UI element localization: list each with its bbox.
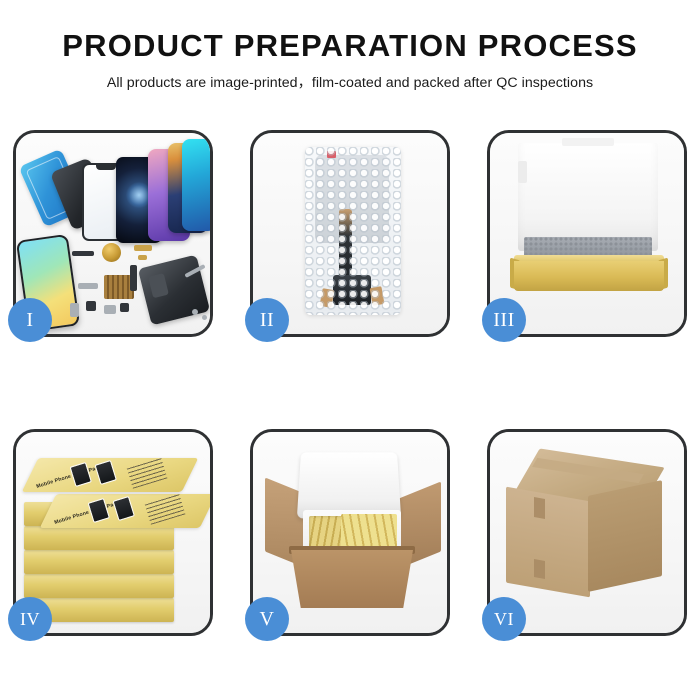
bracket-part [78,283,98,289]
process-step-panel-5: V [250,429,450,636]
flex-cable-part [130,265,137,291]
stacked-box [24,574,174,598]
speaker-part [104,305,116,314]
step-badge-5: V [245,597,289,641]
vibration-motor-part [102,243,121,262]
process-step-panel-4: Mobile Phone Spare Parts Mobile Phone Sp… [13,429,213,636]
process-step-panel-2: II [250,130,450,337]
box-stack: Mobile Phone Spare Parts Mobile Phone Sp… [22,450,208,622]
carton-tape-front-lower [534,559,545,579]
step-badge-1: I [8,298,52,342]
step-badge-3: III [482,298,526,342]
phone-teal-gradient [182,139,210,231]
carton-front-face [506,487,590,598]
box-label-window [95,460,117,485]
stacked-box-top-face: Mobile Phone Spare Parts [40,494,210,528]
earpiece-part [72,251,94,256]
camera-module-part [86,301,96,311]
step-badge-4: IV [8,597,52,641]
stacked-box-top-face: Mobile Phone Spare Parts [22,458,199,492]
box-label-window [70,462,92,487]
ic-chip-part [120,303,129,312]
process-step-panel-6: VI [487,429,687,636]
carton-front-panel [291,550,413,608]
step-badge-2: II [245,298,289,342]
kraft-box-body [514,261,664,291]
box-label-spec-lines [145,493,186,525]
process-step-panel-3: III [487,130,687,337]
box-lid-open [518,143,658,251]
screw-part [202,315,207,320]
box-label-window [88,498,110,523]
page-title: PRODUCT PREPARATION PROCESS [0,30,700,63]
box-label-window [113,496,135,521]
packed-kraft-boxes [341,514,397,550]
gold-flex-part [134,245,152,251]
page-subtitle: All products are image-printed，film-coat… [0,72,700,92]
sim-tray-part [70,303,79,317]
step-badge-6: VI [482,597,526,641]
page-header: PRODUCT PREPARATION PROCESS All products… [0,0,700,92]
process-step-panel-1: I [13,130,213,337]
carton-side-face [588,480,662,592]
bubble-wrap-bag [305,147,401,315]
gold-clip-part [138,255,147,260]
process-steps-grid: I II [13,130,687,636]
box-label-spec-lines [127,457,168,489]
carton-tape-front-upper [534,497,545,519]
screw-part [192,309,198,315]
stacked-box [24,526,174,550]
stacked-box [24,550,174,574]
foam-box-lid [297,452,401,518]
product-preparation-page: PRODUCT PREPARATION PROCESS All products… [0,0,700,700]
bubble-texture-overlay [305,147,401,315]
